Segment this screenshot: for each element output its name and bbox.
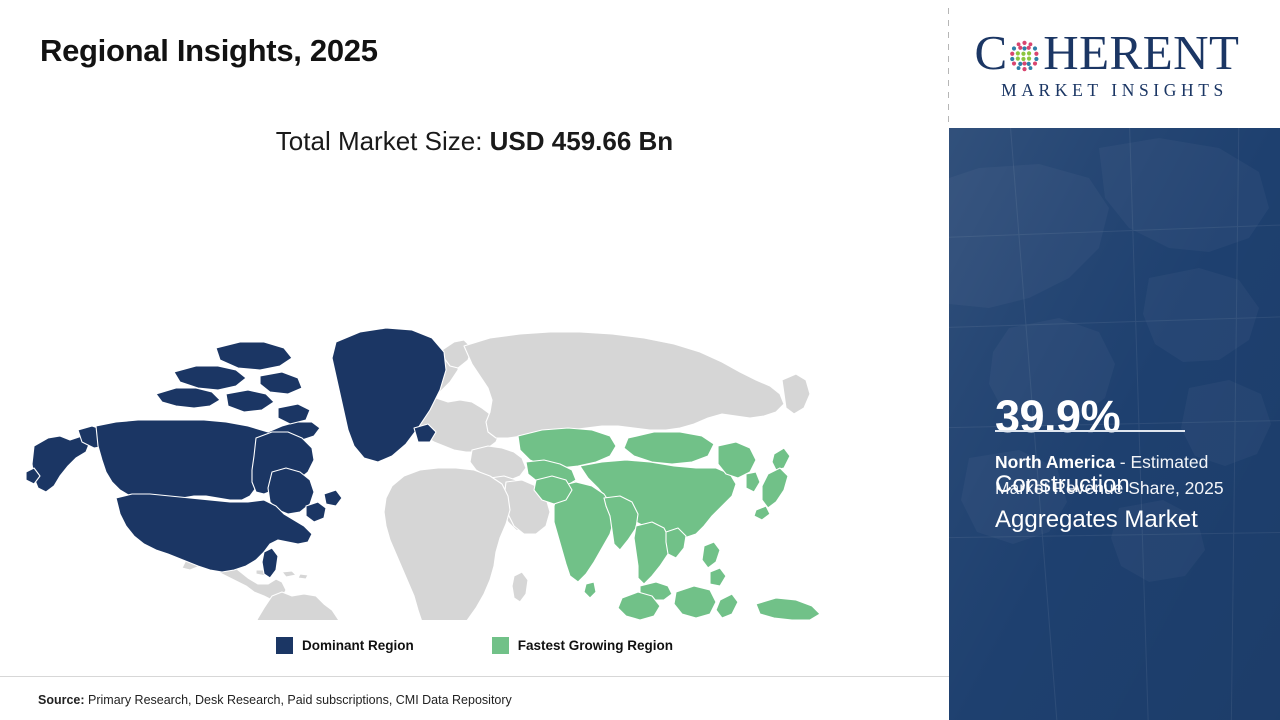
globe-dots-icon (1007, 38, 1042, 73)
market-name: Construction Aggregates Market (995, 468, 1255, 538)
brand-logo[interactable]: C (949, 0, 1280, 128)
legend-item-fastest: Fastest Growing Region (492, 637, 673, 654)
panel-horizontal-rule (995, 430, 1185, 432)
brand-letter-c: C (975, 28, 1008, 77)
brand-logo-wordmark: C (975, 28, 1255, 77)
left-content-area: Regional Insights, 2025 Total Market Siz… (0, 0, 949, 720)
world-map-svg (20, 180, 900, 620)
total-market-size-value: USD 459.66 Bn (490, 126, 674, 156)
total-market-size: Total Market Size: USD 459.66 Bn (0, 126, 949, 157)
brand-logo-inner: C (975, 28, 1255, 101)
legend-label-dominant: Dominant Region (302, 638, 414, 653)
source-text: Primary Research, Desk Research, Paid su… (85, 693, 512, 707)
source-label: Source: (38, 693, 85, 707)
legend-swatch-dominant (276, 637, 293, 654)
source-note: Source: Primary Research, Desk Research,… (38, 693, 512, 707)
legend-label-fastest: Fastest Growing Region (518, 638, 673, 653)
map-region-dominant (26, 328, 446, 578)
brand-tagline: MARKET INSIGHTS (975, 80, 1255, 101)
legend-swatch-fastest (492, 637, 509, 654)
world-map (20, 180, 900, 620)
stats-panel: 39.9% North America - Estimated Market R… (949, 128, 1280, 720)
footer-divider (0, 676, 949, 677)
page-title: Regional Insights, 2025 (40, 33, 378, 69)
brand-letters-rest: HERENT (1043, 28, 1239, 77)
market-name-wrap: Construction Aggregates Market (995, 468, 1255, 538)
legend-item-dominant: Dominant Region (276, 637, 414, 654)
map-legend: Dominant Region Fastest Growing Region (0, 637, 949, 654)
market-share-percent: 39.9% (995, 394, 1120, 439)
map-region-fastest (518, 428, 862, 620)
total-market-size-label: Total Market Size: (276, 126, 490, 156)
infographic-page: Regional Insights, 2025 Total Market Siz… (0, 0, 1280, 720)
